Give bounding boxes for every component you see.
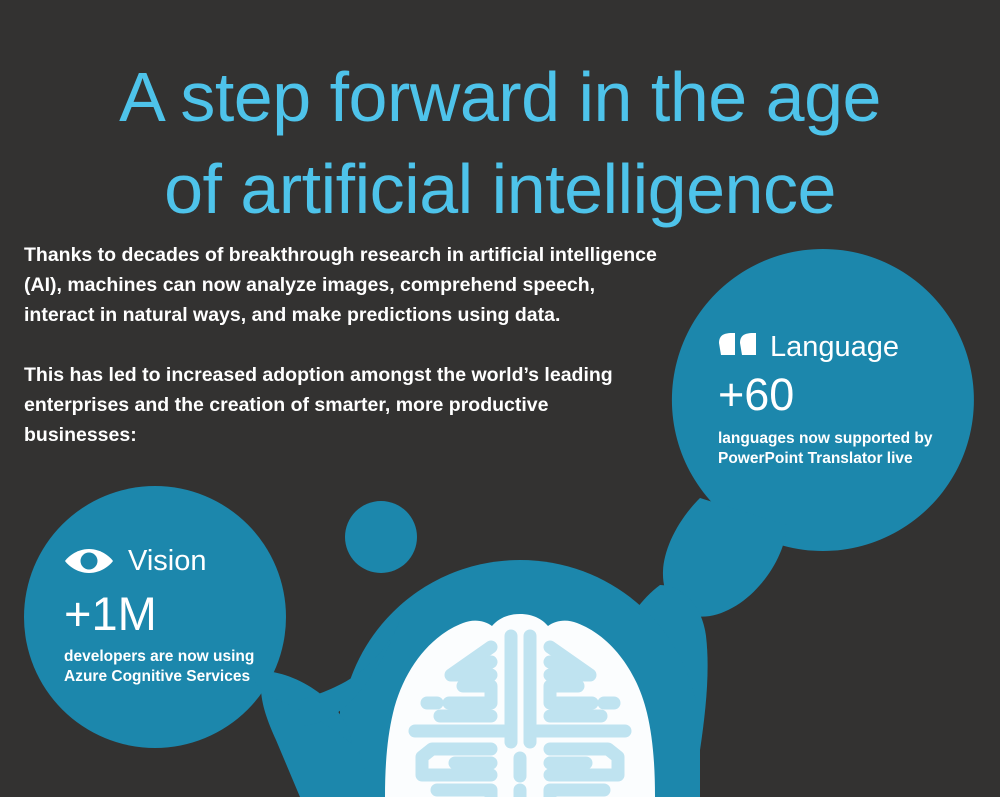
intro-paragraph-2: This has led to increased adoption among… — [24, 360, 664, 450]
headline-line-1: A step forward in the age — [0, 51, 1000, 143]
stat-language-value: +60 — [718, 372, 968, 417]
stat-language-title: Language — [770, 333, 899, 362]
stat-vision-title: Vision — [128, 547, 206, 576]
intro-paragraph-1: Thanks to decades of breakthrough resear… — [24, 240, 664, 330]
quote-icon — [718, 332, 758, 362]
stat-language-header: Language — [718, 332, 968, 362]
accent-dot-icon — [345, 501, 417, 573]
page-title: A step forward in the age of artificial … — [0, 51, 1000, 235]
stat-language-description: languages now supported by PowerPoint Tr… — [718, 429, 968, 469]
infographic-canvas: A step forward in the age of artificial … — [0, 0, 1000, 797]
eye-icon — [64, 546, 114, 576]
stat-card-vision: Vision +1M developers are now using Azur… — [64, 546, 304, 687]
intro-copy: Thanks to decades of breakthrough resear… — [24, 240, 664, 450]
stat-vision-value: +1M — [64, 590, 304, 637]
headline-line-2: of artificial intelligence — [0, 143, 1000, 235]
stat-vision-header: Vision — [64, 546, 304, 576]
stat-card-language: Language +60 languages now supported by … — [718, 332, 968, 469]
stat-vision-description: developers are now using Azure Cognitive… — [64, 647, 304, 687]
